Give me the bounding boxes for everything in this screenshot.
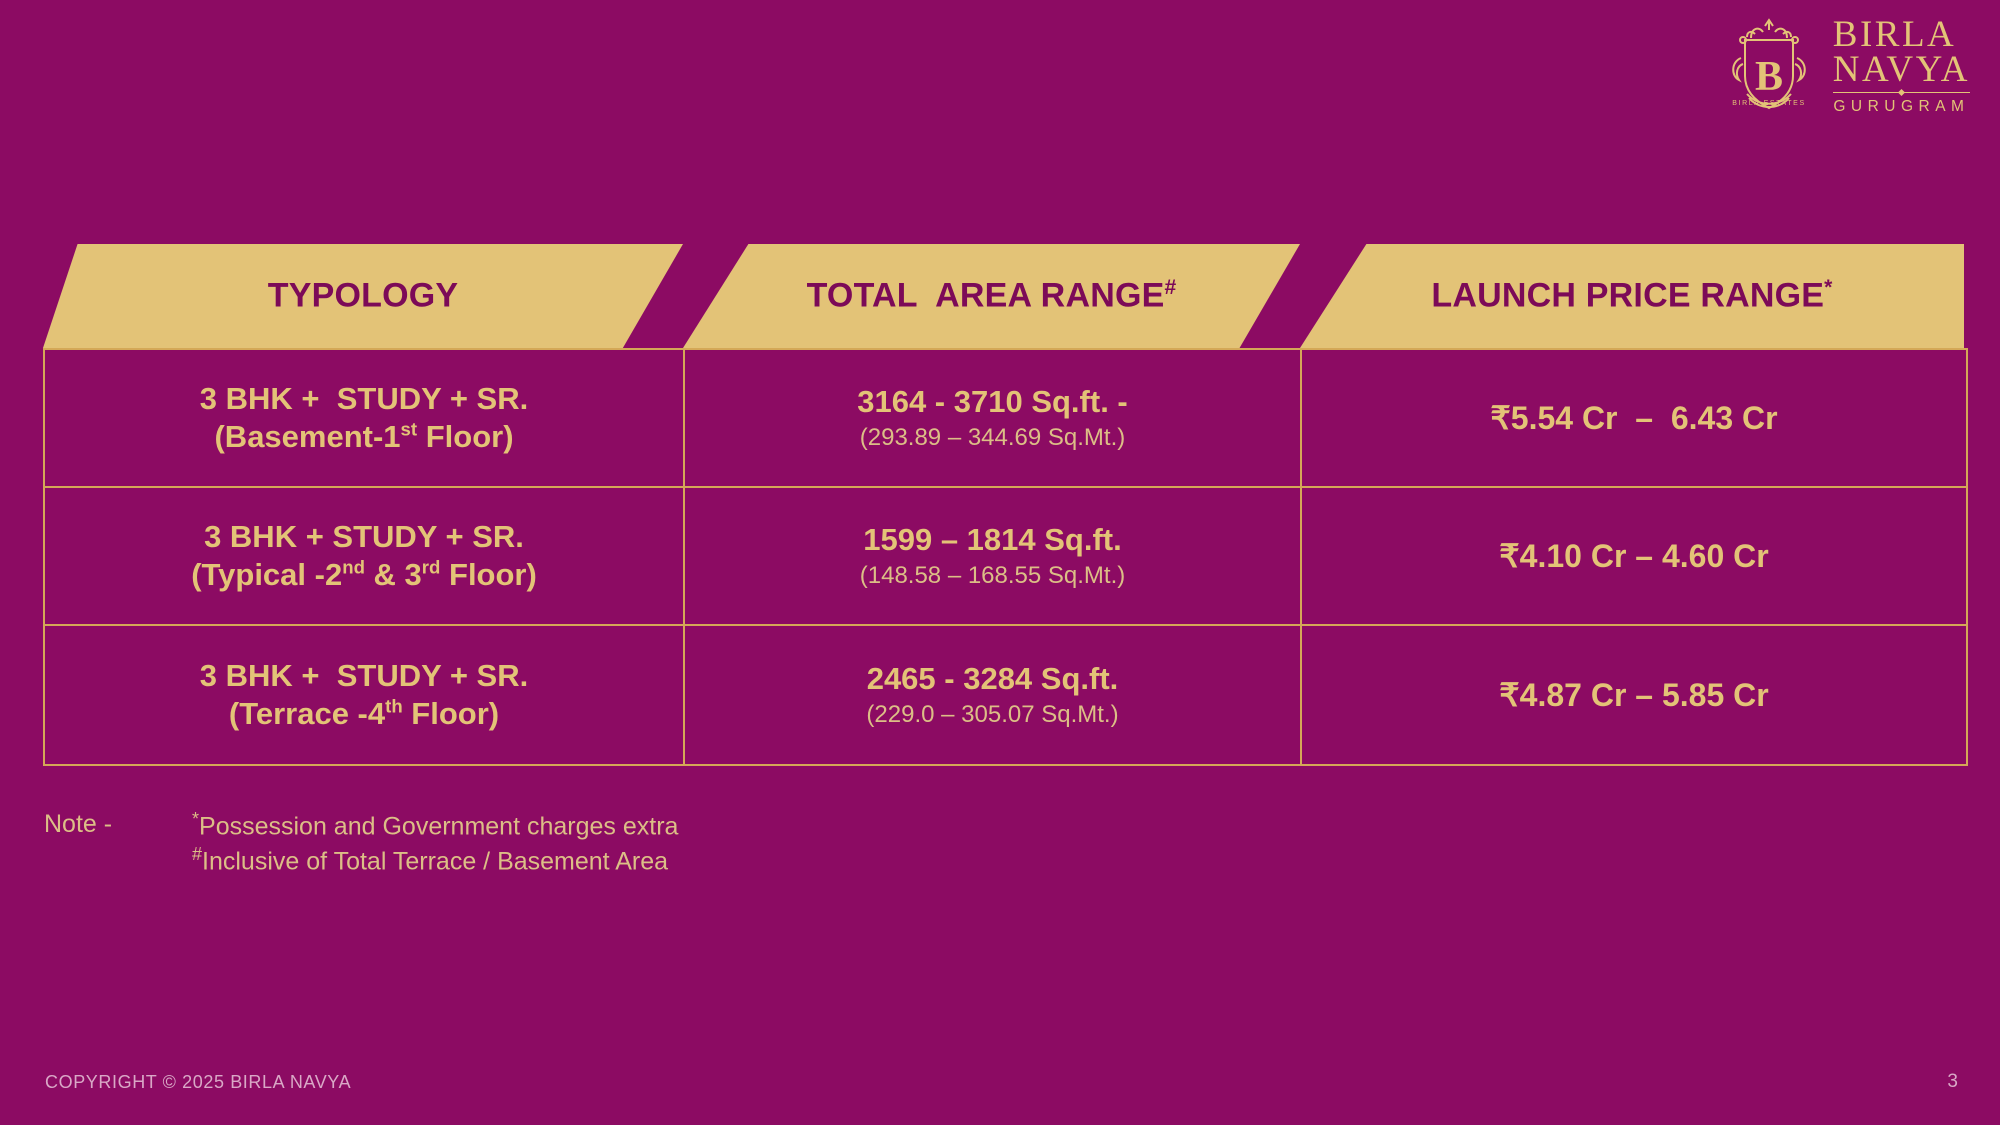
header-marker: * bbox=[1824, 276, 1832, 299]
area-sqft: 1599 – 1814 Sq.ft. bbox=[863, 521, 1122, 558]
table-row: 3 BHK + STUDY + SR. (Typical -2nd & 3rd … bbox=[45, 488, 1966, 626]
header-marker: # bbox=[1164, 276, 1176, 299]
footnote-line-2: #Inclusive of Total Terrace / Basement A… bbox=[192, 843, 678, 878]
area-sqft: 2465 - 3284 Sq.ft. bbox=[867, 660, 1119, 697]
area-sqmt: (148.58 – 168.55 Sq.Mt.) bbox=[860, 560, 1126, 591]
area-sqmt: (229.0 – 305.07 Sq.Mt.) bbox=[866, 699, 1118, 730]
footnote-block: Note - *Possession and Government charge… bbox=[44, 808, 678, 879]
cell-typology: 3 BHK + STUDY + SR. (Terrace -4th Floor) bbox=[45, 626, 685, 764]
birla-crest-icon: B BIRLA ESTATES bbox=[1721, 14, 1817, 120]
crest-motto: BIRLA ESTATES bbox=[1732, 100, 1805, 107]
price-range: ₹4.87 Cr – 5.85 Cr bbox=[1499, 676, 1768, 714]
footnote-line-1: *Possession and Government charges extra bbox=[192, 808, 678, 843]
brand-wordmark: BIRLA NAVYA GURUGRAM bbox=[1833, 18, 1970, 117]
typology-line-1: 3 BHK + STUDY + SR. bbox=[200, 380, 528, 418]
column-header-price-label: LAUNCH PRICE RANGE* bbox=[1431, 276, 1832, 315]
cell-area: 2465 - 3284 Sq.ft. (229.0 – 305.07 Sq.Mt… bbox=[685, 626, 1302, 764]
brand-city: GURUGRAM bbox=[1833, 98, 1970, 116]
brand-divider bbox=[1833, 92, 1970, 93]
typology-line-2: (Typical -2nd & 3rd Floor) bbox=[191, 556, 537, 594]
cell-area: 1599 – 1814 Sq.ft. (148.58 – 168.55 Sq.M… bbox=[685, 488, 1302, 624]
cell-area: 3164 - 3710 Sq.ft. - (293.89 – 344.69 Sq… bbox=[685, 350, 1302, 486]
footnote-lines: *Possession and Government charges extra… bbox=[192, 808, 678, 879]
cell-typology: 3 BHK + STUDY + SR. (Basement-1st Floor) bbox=[45, 350, 685, 486]
price-range: ₹4.10 Cr – 4.60 Cr bbox=[1499, 537, 1768, 575]
column-header-price: LAUNCH PRICE RANGE* bbox=[1300, 244, 1964, 348]
brand-logo: B BIRLA ESTATES BIRLA NAVYA GURUGRAM bbox=[1721, 14, 1970, 120]
column-header-area: TOTAL AREA RANGE# bbox=[683, 244, 1300, 348]
area-sqmt: (293.89 – 344.69 Sq.Mt.) bbox=[860, 422, 1126, 453]
cell-price: ₹5.54 Cr – 6.43 Cr bbox=[1302, 350, 1966, 486]
cell-price: ₹4.87 Cr – 5.85 Cr bbox=[1302, 626, 1966, 764]
price-range: ₹5.54 Cr – 6.43 Cr bbox=[1490, 399, 1777, 437]
typology-line-2: (Terrace -4th Floor) bbox=[229, 695, 499, 733]
brand-name-line2: NAVYA bbox=[1833, 53, 1970, 88]
typology-line-1: 3 BHK + STUDY + SR. bbox=[200, 657, 528, 695]
table-header-row: TYPOLOGY TOTAL AREA RANGE# LAUNCH PRICE … bbox=[43, 244, 1968, 348]
cell-typology: 3 BHK + STUDY + SR. (Typical -2nd & 3rd … bbox=[45, 488, 685, 624]
table-body: 3 BHK + STUDY + SR. (Basement-1st Floor)… bbox=[43, 348, 1968, 766]
brand-name-line1: BIRLA bbox=[1833, 18, 1970, 53]
column-header-typology-label: TYPOLOGY bbox=[268, 276, 459, 315]
column-header-typology: TYPOLOGY bbox=[43, 244, 683, 348]
table-row: 3 BHK + STUDY + SR. (Terrace -4th Floor)… bbox=[45, 626, 1966, 764]
copyright-text: COPYRIGHT © 2025 BIRLA NAVYA bbox=[45, 1072, 351, 1093]
column-header-area-label: TOTAL AREA RANGE# bbox=[807, 276, 1177, 315]
typology-line-2: (Basement-1st Floor) bbox=[214, 418, 513, 456]
footnote-label: Note - bbox=[44, 808, 192, 879]
table-row: 3 BHK + STUDY + SR. (Basement-1st Floor)… bbox=[45, 350, 1966, 488]
typology-line-1: 3 BHK + STUDY + SR. bbox=[204, 518, 524, 556]
crest-letter: B bbox=[1755, 54, 1783, 100]
pricing-table: TYPOLOGY TOTAL AREA RANGE# LAUNCH PRICE … bbox=[43, 244, 1968, 766]
area-sqft: 3164 - 3710 Sq.ft. - bbox=[857, 383, 1128, 420]
cell-price: ₹4.10 Cr – 4.60 Cr bbox=[1302, 488, 1966, 624]
page-number: 3 bbox=[1947, 1071, 1958, 1093]
